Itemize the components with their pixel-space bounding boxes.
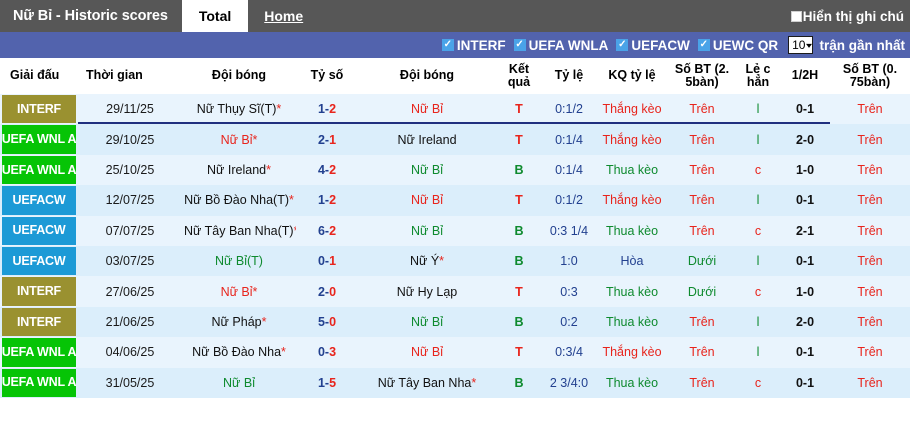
match-score: 1-2 — [296, 94, 358, 124]
over-under-075: Trên — [830, 124, 910, 154]
show-notes-label: Hiển thị ghi chú — [803, 9, 904, 24]
handicap-result: Thua kèo — [596, 307, 668, 337]
col-header-time[interactable]: Thời gian — [78, 58, 182, 94]
match-result: T — [496, 185, 542, 215]
filter-uefa-wnla[interactable]: ✓ UEFA WNLA — [514, 38, 609, 53]
match-result: T — [496, 276, 542, 306]
handicap-odds: 0:1/4 — [542, 124, 596, 154]
match-score: 0-1 — [296, 246, 358, 276]
home-away-star: * — [276, 102, 281, 116]
match-date: 21/06/25 — [78, 307, 182, 337]
away-team[interactable]: Nữ Bỉ — [358, 155, 496, 185]
home-team[interactable]: Nữ Thụy Sĩ(T)* — [182, 94, 296, 124]
filter-uefacw[interactable]: ✓ UEFACW — [616, 38, 690, 53]
handicap-result: Thua kèo — [596, 276, 668, 306]
over-under-075: Trên — [830, 337, 910, 367]
col-header-score[interactable]: Tỷ số — [296, 58, 358, 94]
handicap-result: Thua kèo — [596, 155, 668, 185]
over-under-075: Trên — [830, 94, 910, 124]
odd-even-result: l — [736, 337, 780, 367]
home-team[interactable]: Nữ Pháp* — [182, 307, 296, 337]
home-away-star: * — [289, 193, 294, 207]
away-team[interactable]: Nữ Hy Lạp — [358, 276, 496, 306]
match-date: 03/07/25 — [78, 246, 182, 276]
col-header-result[interactable]: Kết quả — [496, 58, 542, 94]
home-team[interactable]: Nữ Ireland* — [182, 155, 296, 185]
away-team[interactable]: Nữ Bỉ — [358, 216, 496, 246]
half-time-score: 0-1 — [780, 337, 830, 367]
match-count-value: 10 — [792, 38, 805, 52]
league-badge[interactable]: INTERF — [0, 276, 78, 306]
match-result: B — [496, 155, 542, 185]
away-team[interactable]: Nữ Tây Ban Nha* — [358, 368, 496, 398]
home-team[interactable]: Nữ Bồ Đào Nha(T)* — [182, 185, 296, 215]
match-result: B — [496, 368, 542, 398]
chevron-down-icon[interactable]: ▾ — [806, 41, 812, 50]
check-icon[interactable]: ✓ — [514, 39, 526, 51]
check-icon[interactable]: ✓ — [616, 39, 628, 51]
home-away-star: * — [294, 224, 296, 238]
col-header-ou-075[interactable]: Số BT (0. 75bàn) — [830, 58, 910, 94]
home-team[interactable]: Nữ Bỉ* — [182, 276, 296, 306]
table-row[interactable]: INTERF29/11/25Nữ Thụy Sĩ(T)*1-2Nữ BỉT0:1… — [0, 94, 910, 124]
match-score: 0-3 — [296, 337, 358, 367]
col-header-league[interactable]: Giải đấu — [0, 58, 78, 94]
away-team[interactable]: Nữ Bỉ — [358, 337, 496, 367]
away-team[interactable]: Nữ Ý* — [358, 246, 496, 276]
filter-label: UEFA WNLA — [529, 38, 609, 53]
odd-even-result: c — [736, 276, 780, 306]
over-under-25: Trên — [668, 94, 736, 124]
handicap-odds: 1:0 — [542, 246, 596, 276]
match-date: 25/10/25 — [78, 155, 182, 185]
away-team[interactable]: Nữ Bỉ — [358, 185, 496, 215]
over-under-075: Trên — [830, 246, 910, 276]
table-row[interactable]: UEFACW03/07/25Nữ Bỉ(T)0-1Nữ Ý*B1:0HòaDướ… — [0, 246, 910, 276]
table-header-row: Giải đấu Thời gian Đội bóng Tỷ số Đội bó… — [0, 58, 910, 94]
over-under-075: Trên — [830, 368, 910, 398]
half-time-score: 0-1 — [780, 94, 830, 124]
match-score: 4-2 — [296, 155, 358, 185]
handicap-odds: 0:3/4 — [542, 337, 596, 367]
show-notes-toggle[interactable]: Hiển thị ghi chú — [791, 0, 904, 32]
check-icon[interactable]: ✓ — [442, 39, 454, 51]
over-under-075: Trên — [830, 276, 910, 306]
league-badge[interactable]: UEFACW — [0, 185, 78, 215]
filter-uewc-qr[interactable]: ✓ UEWC QR — [698, 38, 778, 53]
over-under-075: Trên — [830, 307, 910, 337]
odd-even-result: l — [736, 246, 780, 276]
app-header: Nữ Bỉ - Historic scores Total Home Hiển … — [0, 0, 910, 32]
match-score: 2-1 — [296, 124, 358, 154]
match-date: 31/05/25 — [78, 368, 182, 398]
handicap-result: Thắng kèo — [596, 94, 668, 124]
away-team[interactable]: Nữ Ireland — [358, 124, 496, 154]
match-score: 6-2 — [296, 216, 358, 246]
league-badge[interactable]: INTERF — [0, 94, 78, 124]
table-row[interactable]: INTERF27/06/25Nữ Bỉ*2-0Nữ Hy LạpT0:3Thua… — [0, 276, 910, 306]
match-date: 29/10/25 — [78, 124, 182, 154]
match-result: B — [496, 216, 542, 246]
match-score: 2-0 — [296, 276, 358, 306]
over-under-075: Trên — [830, 155, 910, 185]
over-under-25: Trên — [668, 307, 736, 337]
over-under-25: Dưới — [668, 246, 736, 276]
match-date: 27/06/25 — [78, 276, 182, 306]
checkbox-icon[interactable] — [791, 11, 802, 22]
historic-scores-table: Giải đấu Thời gian Đội bóng Tỷ số Đội bó… — [0, 58, 910, 398]
league-badge[interactable]: UEFACW — [0, 246, 78, 276]
handicap-odds: 0:1/4 — [542, 155, 596, 185]
home-away-star: * — [262, 315, 267, 329]
over-under-075: Trên — [830, 216, 910, 246]
table-body: INTERF29/11/25Nữ Thụy Sĩ(T)*1-2Nữ BỉT0:1… — [0, 94, 910, 398]
home-team[interactable]: Nữ Bỉ(T) — [182, 246, 296, 276]
match-result: T — [496, 337, 542, 367]
tab-home[interactable]: Home — [248, 0, 319, 32]
match-result: T — [496, 94, 542, 124]
filter-interf[interactable]: ✓ INTERF — [442, 38, 506, 53]
handicap-odds: 0:2 — [542, 307, 596, 337]
handicap-result: Hòa — [596, 246, 668, 276]
match-result: B — [496, 246, 542, 276]
odd-even-result: c — [736, 216, 780, 246]
over-under-25: Trên — [668, 155, 736, 185]
table-row[interactable]: UEFA WNL A31/05/25Nữ Bỉ1-5Nữ Tây Ban Nha… — [0, 368, 910, 398]
match-score: 1-5 — [296, 368, 358, 398]
league-badge[interactable]: UEFACW — [0, 216, 78, 246]
match-score: 5-0 — [296, 307, 358, 337]
half-time-score: 1-0 — [780, 155, 830, 185]
col-header-odds-result[interactable]: KQ tỷ lệ — [596, 58, 668, 94]
home-team[interactable]: Nữ Bỉ* — [182, 124, 296, 154]
over-under-25: Dưới — [668, 276, 736, 306]
col-header-half-time[interactable]: 1/2H — [780, 58, 830, 94]
home-away-star: * — [471, 376, 476, 390]
league-badge[interactable]: UEFA WNL A — [0, 368, 78, 398]
match-date: 29/11/25 — [78, 94, 182, 124]
handicap-result: Thua kèo — [596, 216, 668, 246]
page-title: Nữ Bỉ - Historic scores — [0, 0, 182, 32]
tab-total[interactable]: Total — [182, 0, 248, 32]
over-under-25: Trên — [668, 216, 736, 246]
table-row[interactable]: UEFACW07/07/25Nữ Tây Ban Nha(T)*6-2Nữ Bỉ… — [0, 216, 910, 246]
table-row[interactable]: UEFA WNL A29/10/25Nữ Bỉ*2-1Nữ IrelandT0:… — [0, 124, 910, 154]
over-under-25: Trên — [668, 337, 736, 367]
handicap-result: Thắng kèo — [596, 337, 668, 367]
match-date: 07/07/25 — [78, 216, 182, 246]
over-under-25: Trên — [668, 368, 736, 398]
half-time-score: 0-1 — [780, 368, 830, 398]
handicap-result: Thắng kèo — [596, 124, 668, 154]
match-count-select[interactable]: 10 ▾ — [788, 36, 813, 54]
handicap-odds: 2 3/4:0 — [542, 368, 596, 398]
home-away-star: * — [281, 345, 286, 359]
away-team[interactable]: Nữ Bỉ — [358, 307, 496, 337]
away-team[interactable]: Nữ Bỉ — [358, 94, 496, 124]
half-time-score: 1-0 — [780, 276, 830, 306]
odd-even-result: l — [736, 94, 780, 124]
recent-matches-label: trận gần nhất — [819, 38, 905, 53]
handicap-odds: 0:3 1/4 — [542, 216, 596, 246]
half-time-score: 0-1 — [780, 246, 830, 276]
half-time-score: 0-1 — [780, 185, 830, 215]
table-row[interactable]: UEFA WNL A04/06/25Nữ Bồ Đào Nha*0-3Nữ Bỉ… — [0, 337, 910, 367]
over-under-075: Trên — [830, 185, 910, 215]
league-filter-bar: ✓ INTERF ✓ UEFA WNLA ✓ UEFACW ✓ UEWC QR … — [0, 32, 910, 58]
odd-even-result: c — [736, 155, 780, 185]
home-away-star: * — [253, 285, 258, 299]
home-team[interactable]: Nữ Tây Ban Nha(T)* — [182, 216, 296, 246]
check-icon[interactable]: ✓ — [698, 39, 710, 51]
match-date: 04/06/25 — [78, 337, 182, 367]
half-time-score: 2-0 — [780, 307, 830, 337]
table-row[interactable]: UEFA WNL A25/10/25Nữ Ireland*4-2Nữ BỉB0:… — [0, 155, 910, 185]
home-team[interactable]: Nữ Bồ Đào Nha* — [182, 337, 296, 367]
league-badge[interactable]: UEFA WNL A — [0, 124, 78, 154]
league-badge[interactable]: UEFA WNL A — [0, 155, 78, 185]
col-header-away-team[interactable]: Đội bóng — [358, 58, 496, 94]
col-header-odds[interactable]: Tỷ lệ — [542, 58, 596, 94]
handicap-odds: 0:3 — [542, 276, 596, 306]
home-away-star: * — [439, 254, 444, 268]
home-away-star: * — [253, 133, 258, 147]
handicap-odds: 0:1/2 — [542, 185, 596, 215]
odd-even-result: l — [736, 185, 780, 215]
home-team[interactable]: Nữ Bỉ — [182, 368, 296, 398]
match-score: 1-2 — [296, 185, 358, 215]
col-header-ou-25[interactable]: Số BT (2. 5bàn) — [668, 58, 736, 94]
handicap-result: Thua kèo — [596, 368, 668, 398]
league-badge[interactable]: UEFA WNL A — [0, 337, 78, 367]
odd-even-result: c — [736, 368, 780, 398]
over-under-25: Trên — [668, 124, 736, 154]
col-header-odd-even[interactable]: Lẻ c hẳn — [736, 58, 780, 94]
filter-label: INTERF — [457, 38, 506, 53]
table-row[interactable]: INTERF21/06/25Nữ Pháp*5-0Nữ BỉB0:2Thua k… — [0, 307, 910, 337]
half-time-score: 2-1 — [780, 216, 830, 246]
half-time-score: 2-0 — [780, 124, 830, 154]
over-under-25: Trên — [668, 185, 736, 215]
match-result: B — [496, 307, 542, 337]
filter-label: UEWC QR — [713, 38, 778, 53]
match-date: 12/07/25 — [78, 185, 182, 215]
table-row[interactable]: UEFACW12/07/25Nữ Bồ Đào Nha(T)*1-2Nữ BỉT… — [0, 185, 910, 215]
handicap-result: Thắng kèo — [596, 185, 668, 215]
col-header-home-team[interactable]: Đội bóng — [182, 58, 296, 94]
handicap-odds: 0:1/2 — [542, 94, 596, 124]
odd-even-result: l — [736, 124, 780, 154]
match-result: T — [496, 124, 542, 154]
filter-label: UEFACW — [631, 38, 690, 53]
odd-even-result: l — [736, 307, 780, 337]
league-badge[interactable]: INTERF — [0, 307, 78, 337]
home-away-star: * — [266, 163, 271, 177]
